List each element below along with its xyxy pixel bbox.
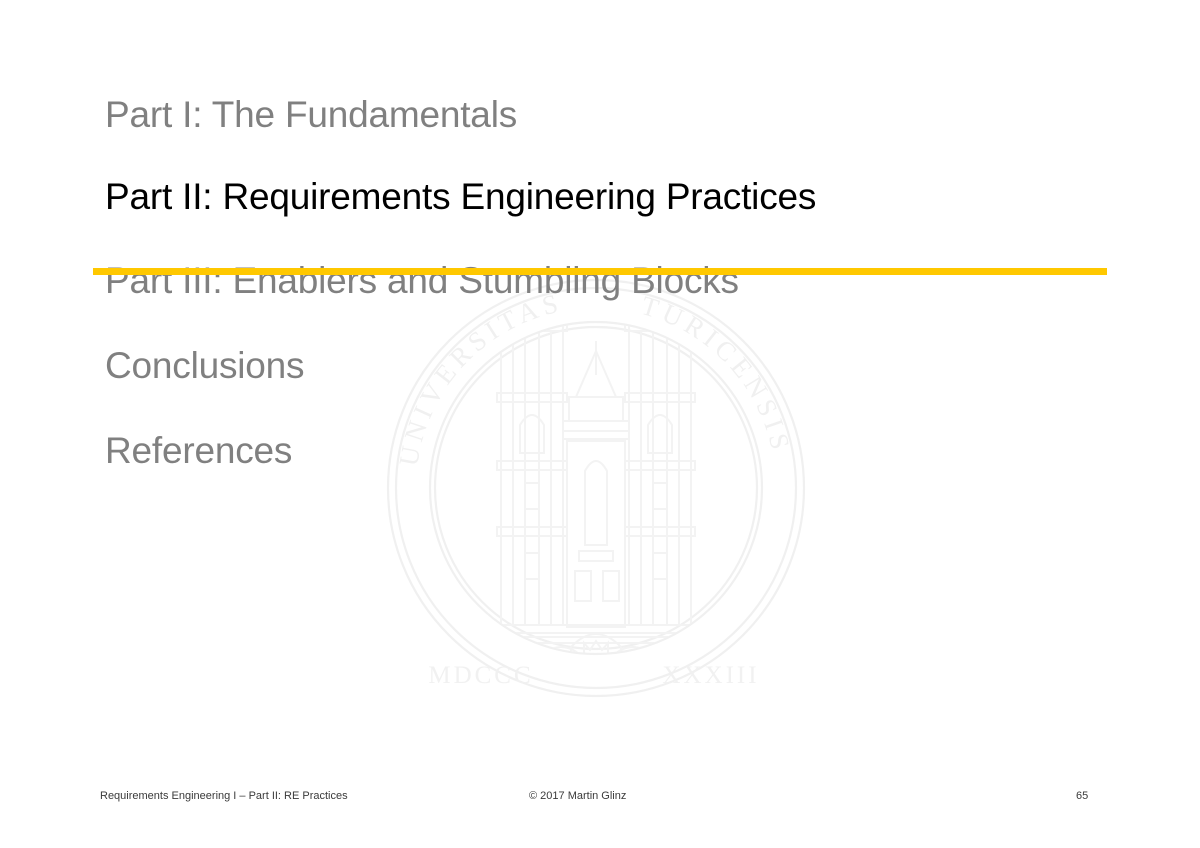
footer-course-title: Requirements Engineering I – Part II: RE… — [100, 790, 348, 802]
agenda-item-part-i[interactable]: Part I: The Fundamentals — [105, 96, 1115, 133]
seal-year-left: MDCCC — [428, 662, 533, 689]
footer-copyright: © 2017 Martin Glinz — [529, 790, 626, 802]
agenda-row: Part I: The Fundamentals — [105, 96, 1115, 133]
agenda-item-references[interactable]: References — [105, 432, 1115, 469]
footer-page-number: 65 — [1076, 790, 1088, 802]
agenda-row: Conclusions — [105, 347, 1115, 384]
current-section-highlight-rule — [93, 268, 1107, 275]
slide: UNIVERSITAS TURICENSIS — [0, 0, 1200, 848]
agenda-row: Part II: Requirements Engineering Practi… — [105, 178, 1115, 215]
slide-footer: Requirements Engineering I – Part II: RE… — [0, 790, 1200, 810]
agenda-item-conclusions[interactable]: Conclusions — [105, 347, 1115, 384]
agenda-list: Part I: The Fundamentals Part II: Requir… — [105, 96, 1115, 469]
agenda-item-part-ii[interactable]: Part II: Requirements Engineering Practi… — [105, 178, 1115, 215]
agenda-row: References — [105, 432, 1115, 469]
seal-year-right: XXXIII — [662, 662, 759, 689]
